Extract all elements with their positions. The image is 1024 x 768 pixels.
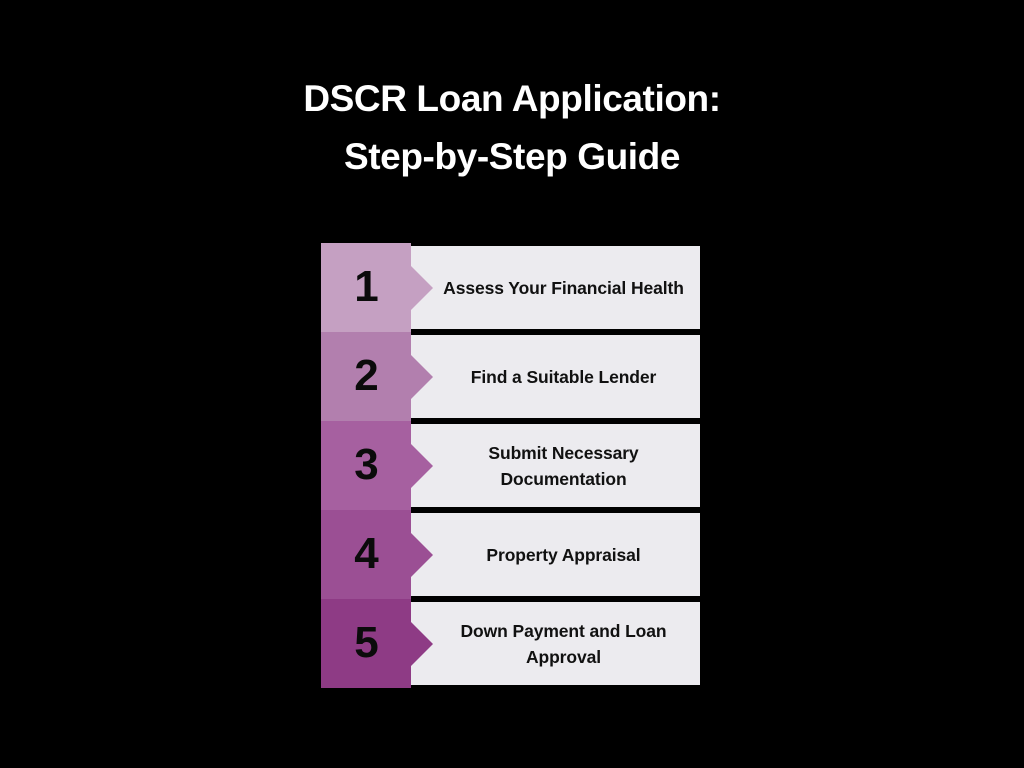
step-panel-5[interactable]: Down Payment and Loan Approval [411,602,700,685]
step-number-block-1: 1 [321,243,411,332]
chevron-right-icon [411,355,433,399]
step-number-label: 3 [354,443,377,487]
step-label: Down Payment and Loan Approval [437,618,690,670]
steps-diagram: 1 Assess Your Financial Health 2 Find a … [321,243,700,690]
step-panel-1[interactable]: Assess Your Financial Health [411,246,700,329]
step-label: Property Appraisal [486,542,640,568]
step-row[interactable]: 1 Assess Your Financial Health [321,243,700,332]
step-label: Submit Necessary Documentation [437,440,690,492]
step-panel-4[interactable]: Property Appraisal [411,513,700,596]
step-number-block-2: 2 [321,332,411,421]
step-row[interactable]: 4 Property Appraisal [321,510,700,599]
step-label: Find a Suitable Lender [471,364,656,390]
step-number-block-4: 4 [321,510,411,599]
step-number-label: 1 [354,265,377,309]
step-number-block-5: 5 [321,599,411,688]
step-label: Assess Your Financial Health [443,275,684,301]
title-line-2: Step-by-Step Guide [0,128,1024,186]
chevron-right-icon [411,266,433,310]
page-title: DSCR Loan Application: Step-by-Step Guid… [0,70,1024,186]
step-number-label: 5 [354,621,377,665]
step-number-label: 2 [354,354,377,398]
step-row[interactable]: 2 Find a Suitable Lender [321,332,700,421]
step-row[interactable]: 5 Down Payment and Loan Approval [321,599,700,688]
step-row[interactable]: 3 Submit Necessary Documentation [321,421,700,510]
chevron-right-icon [411,622,433,666]
chevron-right-icon [411,533,433,577]
step-panel-2[interactable]: Find a Suitable Lender [411,335,700,418]
chevron-right-icon [411,444,433,488]
step-number-label: 4 [354,532,377,576]
title-line-1: DSCR Loan Application: [0,70,1024,128]
step-number-block-3: 3 [321,421,411,510]
step-panel-3[interactable]: Submit Necessary Documentation [411,424,700,507]
